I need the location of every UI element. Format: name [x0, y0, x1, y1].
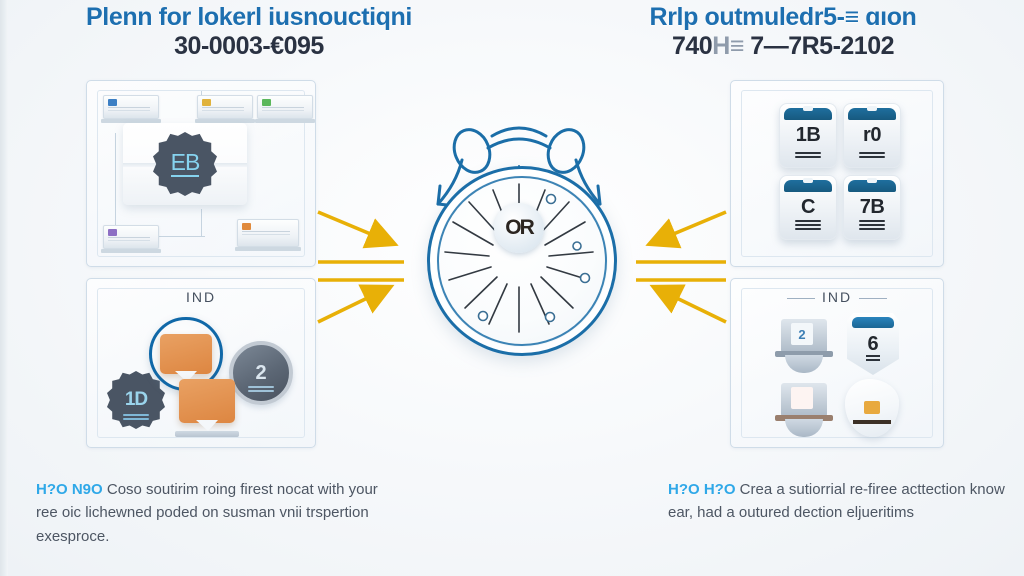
machine-drum: [785, 355, 823, 373]
right-bottom-panel-inner: [741, 288, 933, 438]
tile-cap: [784, 108, 832, 120]
right-caption-lead: H?O H?O: [668, 481, 736, 498]
left-bottom-panel[interactable]: IND 1D 2: [86, 278, 316, 448]
central-hub[interactable]: OR: [404, 108, 634, 348]
hub-core-label: OR: [505, 216, 533, 240]
eb-gear-card[interactable]: EB: [123, 123, 247, 205]
tile-r0[interactable]: r0: [843, 103, 901, 168]
tile-cap: [848, 108, 896, 120]
badge-lines: [248, 384, 274, 392]
tile-c[interactable]: C: [779, 175, 837, 240]
right-caption: H?O H?O Crea a sutiorrial re-firee actte…: [668, 478, 1013, 525]
hub-spokes: [427, 166, 611, 350]
shield-cap: [852, 317, 894, 328]
right-subtitle-glyph: ≡: [730, 32, 744, 60]
left-edge-strip: [0, 0, 8, 576]
right-bottom-panel-label: IND: [731, 289, 943, 305]
machine-clock-screen: 2: [791, 323, 813, 345]
tile-1b-label: 1B: [780, 124, 836, 147]
right-bottom-panel[interactable]: IND 2 6: [730, 278, 944, 448]
tile-1b[interactable]: 1B: [779, 103, 837, 168]
chip-icon-violet: [108, 229, 117, 236]
gear-label: EB: [171, 151, 200, 177]
rule-right: [859, 298, 887, 299]
tile-cap: [784, 180, 832, 192]
wire-vertical-c: [201, 209, 202, 237]
right-header: Rrlp outmuledr5-≡ ɑıon 740H≡ 7—7R5-2102: [548, 4, 1018, 60]
wire-vertical-b: [115, 133, 116, 237]
gear-icon: EB: [153, 132, 217, 196]
arrow-left-upper: [318, 212, 392, 243]
chip-icon-green: [262, 99, 271, 106]
arrow-right-lower: [656, 288, 726, 322]
rule-left: [787, 298, 815, 299]
right-top-panel-inner: [741, 90, 933, 257]
tile-lines: [859, 150, 885, 158]
tile-lines: [859, 218, 885, 230]
left-header: Plenn for lokerl iusnouctiqni 30-0003-€0…: [14, 4, 484, 60]
right-header-subtitle: 740H≡ 7—7R5-2102: [548, 33, 1018, 59]
left-bottom-panel-label: IND: [87, 289, 315, 305]
left-header-subtitle: 30-0003-€095: [14, 33, 484, 59]
device-foot: [235, 247, 301, 251]
badge-2[interactable]: 2: [229, 341, 293, 405]
chip-icon-yellow: [202, 99, 211, 106]
tile-7b-label: 7B: [844, 196, 900, 219]
blob-nub-icon: [864, 401, 880, 414]
right-top-panel[interactable]: 1B r0 C 7B: [730, 80, 944, 267]
machine-printer[interactable]: [775, 379, 833, 437]
tile-lines: [795, 218, 821, 230]
left-header-title: Plenn for lokerl iusnouctiqni: [14, 4, 484, 30]
badge-2-label: 2: [255, 362, 266, 385]
machine-drum: [785, 419, 823, 437]
right-subtitle-part-h: H: [712, 32, 730, 60]
chip-icon-orange: [242, 223, 251, 230]
bench-bar: [175, 431, 239, 437]
right-bottom-label-text: IND: [822, 289, 852, 305]
tile-7b[interactable]: 7B: [843, 175, 901, 240]
badge-lines: [123, 412, 149, 420]
mini-device-yellow[interactable]: [197, 95, 253, 119]
badge-ringed-orange: [160, 334, 212, 374]
machine-printer-screen: [791, 387, 813, 409]
device-foot: [101, 249, 161, 253]
badge-orange[interactable]: [179, 379, 235, 423]
chip-icon-blue: [108, 99, 117, 106]
tile-c-label: C: [780, 196, 836, 219]
machine-clock[interactable]: 2: [775, 315, 833, 373]
mini-device-green[interactable]: [257, 95, 313, 119]
tile-cap: [848, 180, 896, 192]
left-caption-lead: H?O N9O: [36, 481, 103, 498]
right-subtitle-part-b: 7—7R5-2102: [750, 32, 894, 60]
right-header-title: Rrlp outmuledr5-≡ ɑıon: [548, 4, 1018, 30]
tile-lines: [795, 150, 821, 158]
device-foot: [255, 119, 315, 123]
arrow-right-upper: [652, 212, 726, 243]
tile-r0-label: r0: [844, 124, 900, 147]
infographic-canvas: Plenn for lokerl iusnouctiqni 30-0003-€0…: [0, 0, 1024, 576]
arrow-left-lower: [318, 288, 388, 322]
mini-device-orange[interactable]: [237, 219, 299, 247]
badge-1d-label: 1D: [125, 389, 147, 411]
left-top-panel[interactable]: EB: [86, 80, 316, 267]
mini-device-blue[interactable]: [103, 95, 159, 119]
mini-device-violet[interactable]: [103, 225, 159, 249]
left-caption: H?O N9O Coso soutirim roing firest nocat…: [36, 478, 386, 548]
shield-lines: [866, 353, 880, 361]
hub-core-label-wrap: OR: [494, 203, 544, 253]
right-subtitle-part-a: 740: [672, 32, 712, 60]
blob-bar: [853, 420, 891, 424]
